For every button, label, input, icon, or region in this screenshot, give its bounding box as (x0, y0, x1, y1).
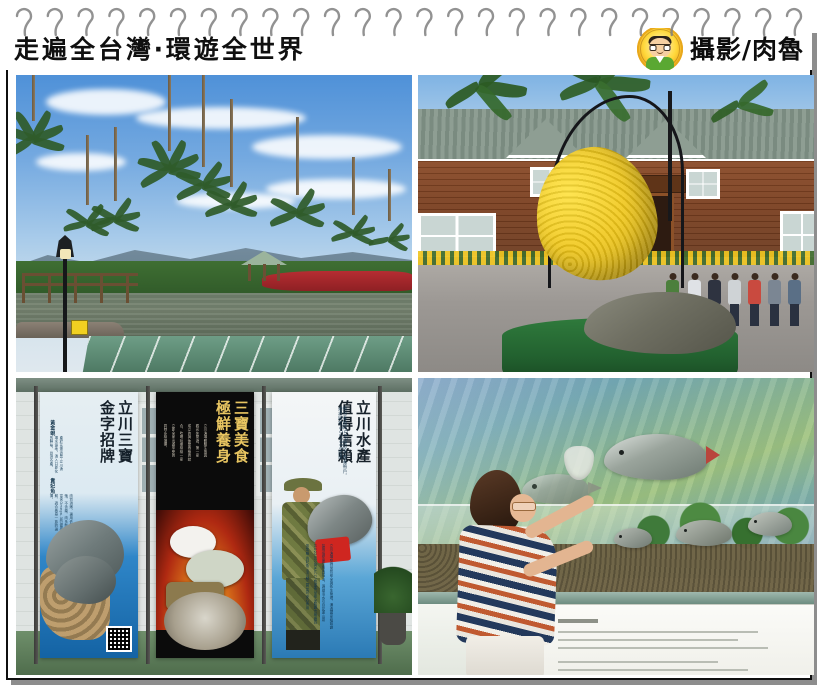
yellow-sign (71, 320, 88, 335)
photo-fish-feeding[interactable] (418, 378, 814, 675)
tourist-group (666, 211, 806, 273)
lamp-post (63, 255, 67, 372)
tank-fish (614, 528, 652, 548)
banner-trust[interactable]: 立川水產 值得信賴 擁有養殖的GAP優良水產養殖戶，通過國家ISO22000認證 (272, 392, 376, 658)
placard-text-line (558, 669, 748, 671)
banner-section-heading: 黃金蜆 (48, 420, 55, 436)
visitor-feeding-fish (454, 470, 574, 675)
soup-photo (164, 592, 246, 650)
banner-gold-sign[interactable]: 立川三寶 金字招牌 黃金蜆 產於花蓮壽豐‧立川漁場水源地，滑入口即化的鮮味，台灣… (40, 392, 138, 658)
banner-body-line: 同時多樣選擇， (162, 424, 167, 482)
photo-banners-scene: 立川三寶 金字招牌 黃金蜆 產於花蓮壽豐‧立川漁場水源地，滑入口即化的鮮味，台灣… (16, 378, 412, 675)
banner-body-line: 合，吃喝玩樂樣樣一家 (178, 424, 183, 482)
photographer-credit: 攝影/肉魯 (690, 37, 804, 62)
tank-fish (748, 512, 792, 536)
striped-top (456, 524, 558, 645)
avatar (637, 28, 683, 70)
banner-body-line: 成立的與休閒養殖的結 (186, 424, 191, 482)
banner-body-line: 立即全家出遊享受的 (170, 424, 175, 482)
banner-body-line: 黃金蜆‧貴妃魚‧活力鯛三寶皆可安心食用 (304, 544, 309, 634)
window (686, 169, 720, 199)
cloud-icon (46, 89, 166, 115)
skirt (466, 636, 544, 675)
placard-text-line (558, 647, 768, 649)
photo-clam-sculpture-scene (418, 75, 814, 372)
banner-body-line: 立川漁場體驗生態與 (202, 424, 207, 482)
glasses-icon (512, 502, 536, 511)
page-title: 走遍全台灣‧環遊全世界 (14, 37, 306, 62)
green-deck (83, 336, 412, 372)
pavilion (244, 251, 284, 281)
banner-title: 立川水產 (354, 400, 370, 464)
banner-title: 立川三寶 (116, 400, 132, 464)
banner-title: 極鮮養身 (214, 400, 230, 464)
banner-frame-post (262, 386, 266, 664)
banner-body-line: ISO22000與HACCP雙重食品安全驗證合格廠商 (312, 544, 317, 634)
placard-text-line (558, 631, 758, 633)
fish-photo (54, 556, 116, 604)
canopy-beam (16, 378, 412, 392)
placard-text-line (558, 639, 738, 641)
banner-gourmet[interactable]: 三寶美食 極鮮養身 立川漁場體驗生態與 觀光休閒遊，第一家 成立的與休閒養殖的結… (156, 392, 254, 658)
header-credit-group: 攝影/肉魯 (637, 28, 806, 70)
banner-body-line: 採用低密度生態養殖法，源頭活水引自花蓮山泉 (320, 544, 325, 634)
banner-frame-post (34, 386, 38, 664)
banner-title: 三寶美食 (232, 400, 248, 464)
banner-title: 金字招牌 (98, 400, 114, 464)
banner-section-body: 產於花蓮壽豐‧立川漁場水源地，滑入口即化的鮮味，台灣名產。 (48, 436, 63, 474)
banner-body-line: 立川漁場堅持品質安全與衛生管理，通過國家級認證 (328, 544, 333, 634)
potted-plant (380, 603, 406, 645)
notebook-frame: 走遍全台灣‧環遊全世界 攝影/肉魯 (6, 28, 812, 680)
photo-park-pond[interactable] (16, 75, 412, 372)
photo-grid: 立川三寶 金字招牌 黃金蜆 產於花蓮壽豐‧立川漁場水源地，滑入口即化的鮮味，台灣… (16, 75, 814, 675)
cloud-icon (252, 135, 402, 159)
photo-clam-sculpture[interactable] (418, 75, 814, 372)
photo-park-pond-scene (16, 75, 412, 372)
banner-section-heading: 貴妃魚 (48, 478, 55, 494)
page-header: 走遍全台灣‧環遊全世界 攝影/肉魯 (6, 28, 812, 70)
wooden-railing (22, 271, 138, 303)
info-placard (544, 604, 814, 675)
photo-banners[interactable]: 立川三寶 金字招牌 黃金蜆 產於花蓮壽豐‧立川漁場水源地，滑入口即化的鮮味，台灣… (16, 378, 412, 675)
photo-fish-feeding-scene (418, 378, 814, 675)
banner-body-line: 觀光休閒遊，第一家 (194, 424, 199, 482)
tank-fish (676, 520, 732, 546)
qr-code-icon (106, 626, 132, 652)
banner-subtitle: 擁有養殖的GAP優良水產養殖戶，通過國家ISO22000認證 (337, 406, 346, 480)
banner-frame-post (146, 386, 150, 664)
red-flower-bed (262, 271, 412, 291)
placard-text-line (558, 661, 718, 663)
cloud-icon (136, 107, 306, 129)
page-root: 走遍全台灣‧環遊全世界 攝影/肉魯 (0, 0, 818, 700)
mural-fish (604, 434, 708, 480)
